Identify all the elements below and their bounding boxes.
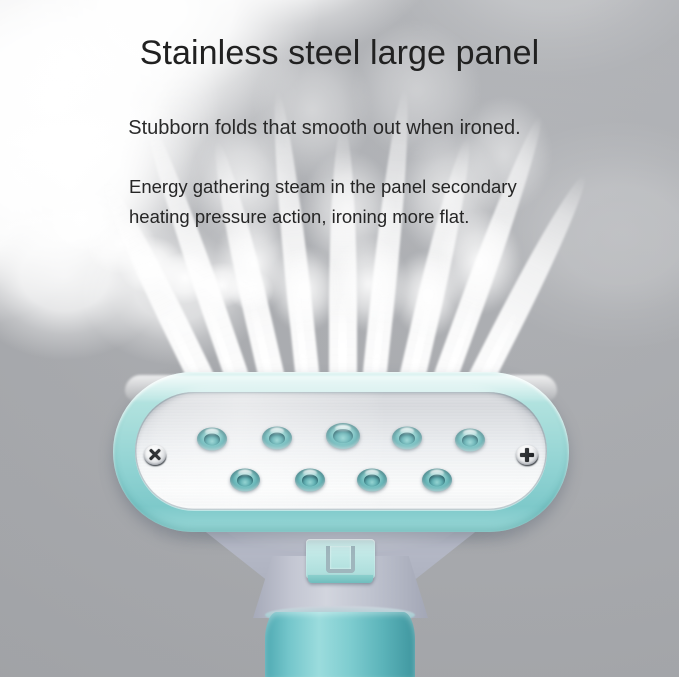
- steam-nozzle: [326, 423, 360, 449]
- steamer-handle: [265, 612, 415, 677]
- body-copy-line-2: heating pressure action, ironing more fl…: [129, 202, 517, 232]
- screw-head: [144, 445, 166, 465]
- steamer-head: [113, 372, 569, 532]
- steam-nozzle: [230, 469, 260, 492]
- page-title: Stainless steel large panel: [0, 34, 679, 73]
- phillips-slot-icon: [525, 448, 528, 462]
- body-copy-line-1: Energy gathering steam in the panel seco…: [129, 172, 517, 202]
- steam-nozzle: [392, 427, 422, 450]
- screw-right: [516, 445, 538, 465]
- steam-nozzle: [455, 429, 485, 452]
- page-subtitle: Stubborn folds that smooth out when iron…: [0, 117, 649, 140]
- u-bracket-icon: [326, 546, 355, 573]
- product-feature-image: Stainless steel large panel Stubborn fol…: [0, 0, 679, 677]
- steam-nozzle: [197, 428, 227, 451]
- steam-nozzle: [262, 427, 292, 450]
- steam-nozzle: [422, 469, 452, 492]
- screw-head: [516, 445, 538, 465]
- steam-nozzle: [295, 469, 325, 492]
- steamer-clip-lip: [308, 575, 373, 583]
- steam-cloud-edge-lobe: [228, 270, 274, 310]
- steam-cloud-edge-lobe: [44, 186, 122, 252]
- steam-nozzle: [357, 469, 387, 492]
- body-copy: Energy gathering steam in the panel seco…: [129, 172, 517, 232]
- screw-left: [144, 445, 166, 465]
